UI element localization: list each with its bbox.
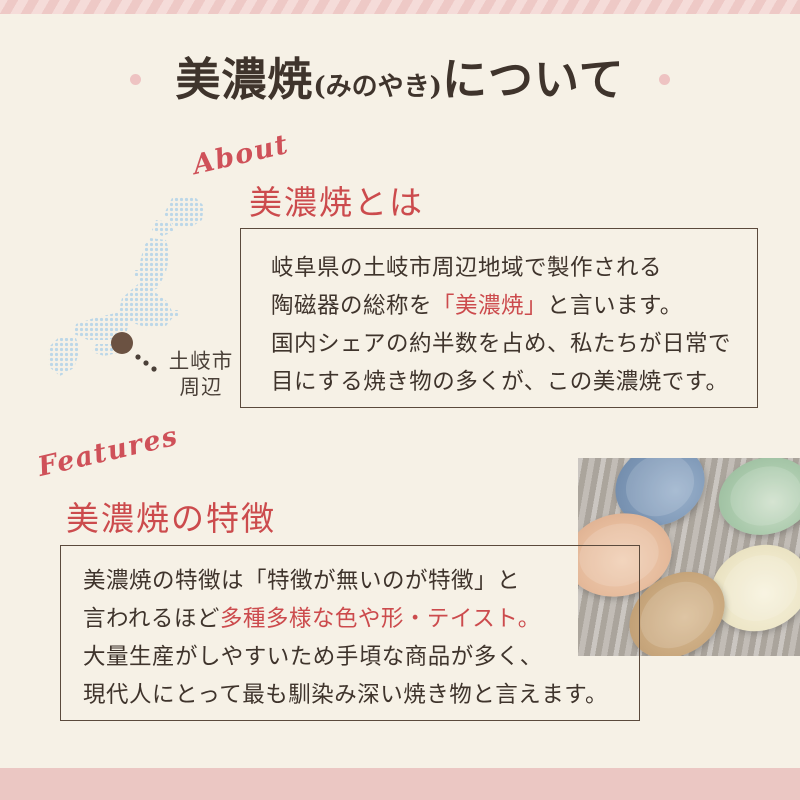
map-marker-label-line2: 周辺	[158, 374, 244, 400]
features-paragraph-2: 大量生産がしやすいため手頃な商品が多く、 現代人にとって最も馴染み深い焼き物と言…	[83, 638, 608, 714]
features-p1-line2-accent: 多種多様な色や形・テイスト。	[220, 606, 541, 632]
features-p2-line1: 大量生産がしやすいため手頃な商品が多く、	[83, 638, 608, 676]
top-stripe-band	[0, 0, 800, 14]
about-p2-line1: 国内シェアの約半数を占め、私たちが日常で	[271, 325, 731, 363]
title-dot-left-icon	[130, 74, 141, 85]
title-dot-right-icon	[659, 74, 670, 85]
map-marker-label: 土岐市 周辺	[158, 348, 244, 400]
map-leader-dot	[151, 366, 156, 371]
about-script-label: About	[190, 129, 292, 181]
map-marker-dot	[111, 332, 133, 354]
features-script-label: Features	[35, 421, 181, 483]
features-section-heading: 美濃焼の特徴	[66, 492, 276, 540]
about-paragraph-1: 岐阜県の土岐市周辺地域で製作される 陶磁器の総称を「美濃焼」と言います。	[271, 249, 683, 325]
features-text-box: 美濃焼の特徴は「特徴が無いのが特徴」と 言われるほど多種多様な色や形・テイスト。…	[60, 545, 640, 721]
about-paragraph-2: 国内シェアの約半数を占め、私たちが日常で 目にする焼き物の多くが、この美濃焼です…	[271, 325, 731, 401]
page-title: 美濃焼(みのやき)について	[175, 57, 624, 102]
about-p1-line2-accent: 「美濃焼」	[432, 293, 547, 319]
features-p1-line1: 美濃焼の特徴は「特徴が無いのが特徴」と	[83, 562, 541, 600]
features-paragraph-1: 美濃焼の特徴は「特徴が無いのが特徴」と 言われるほど多種多様な色や形・テイスト。	[83, 562, 541, 638]
about-p1-line2: 陶磁器の総称を「美濃焼」と言います。	[271, 287, 683, 325]
features-p1-line2: 言われるほど多種多様な色や形・テイスト。	[83, 600, 541, 638]
page-title-kana: (みのやき)	[313, 72, 442, 102]
page-title-suffix: について	[442, 53, 625, 106]
about-p1-line2-pre: 陶磁器の総称を	[271, 293, 432, 319]
about-p1-line1: 岐阜県の土岐市周辺地域で製作される	[271, 249, 683, 287]
about-p2-line2: 目にする焼き物の多くが、この美濃焼です。	[271, 363, 731, 401]
map-leader-dot	[135, 354, 140, 359]
page-title-main: 美濃焼	[175, 53, 313, 106]
about-p1-line2-post: と言います。	[547, 293, 683, 319]
bottom-color-band	[0, 768, 800, 800]
features-p2-line2: 現代人にとって最も馴染み深い焼き物と言えます。	[83, 676, 608, 714]
map-leader-dot	[143, 360, 148, 365]
about-text-box: 岐阜県の土岐市周辺地域で製作される 陶磁器の総称を「美濃焼」と言います。 国内シ…	[240, 228, 758, 408]
about-section-heading: 美濃焼とは	[249, 176, 424, 224]
page-title-row: 美濃焼(みのやき)について	[0, 44, 800, 114]
map-marker-label-line1: 土岐市	[158, 348, 244, 374]
features-p1-line2-pre: 言われるほど	[83, 606, 220, 632]
